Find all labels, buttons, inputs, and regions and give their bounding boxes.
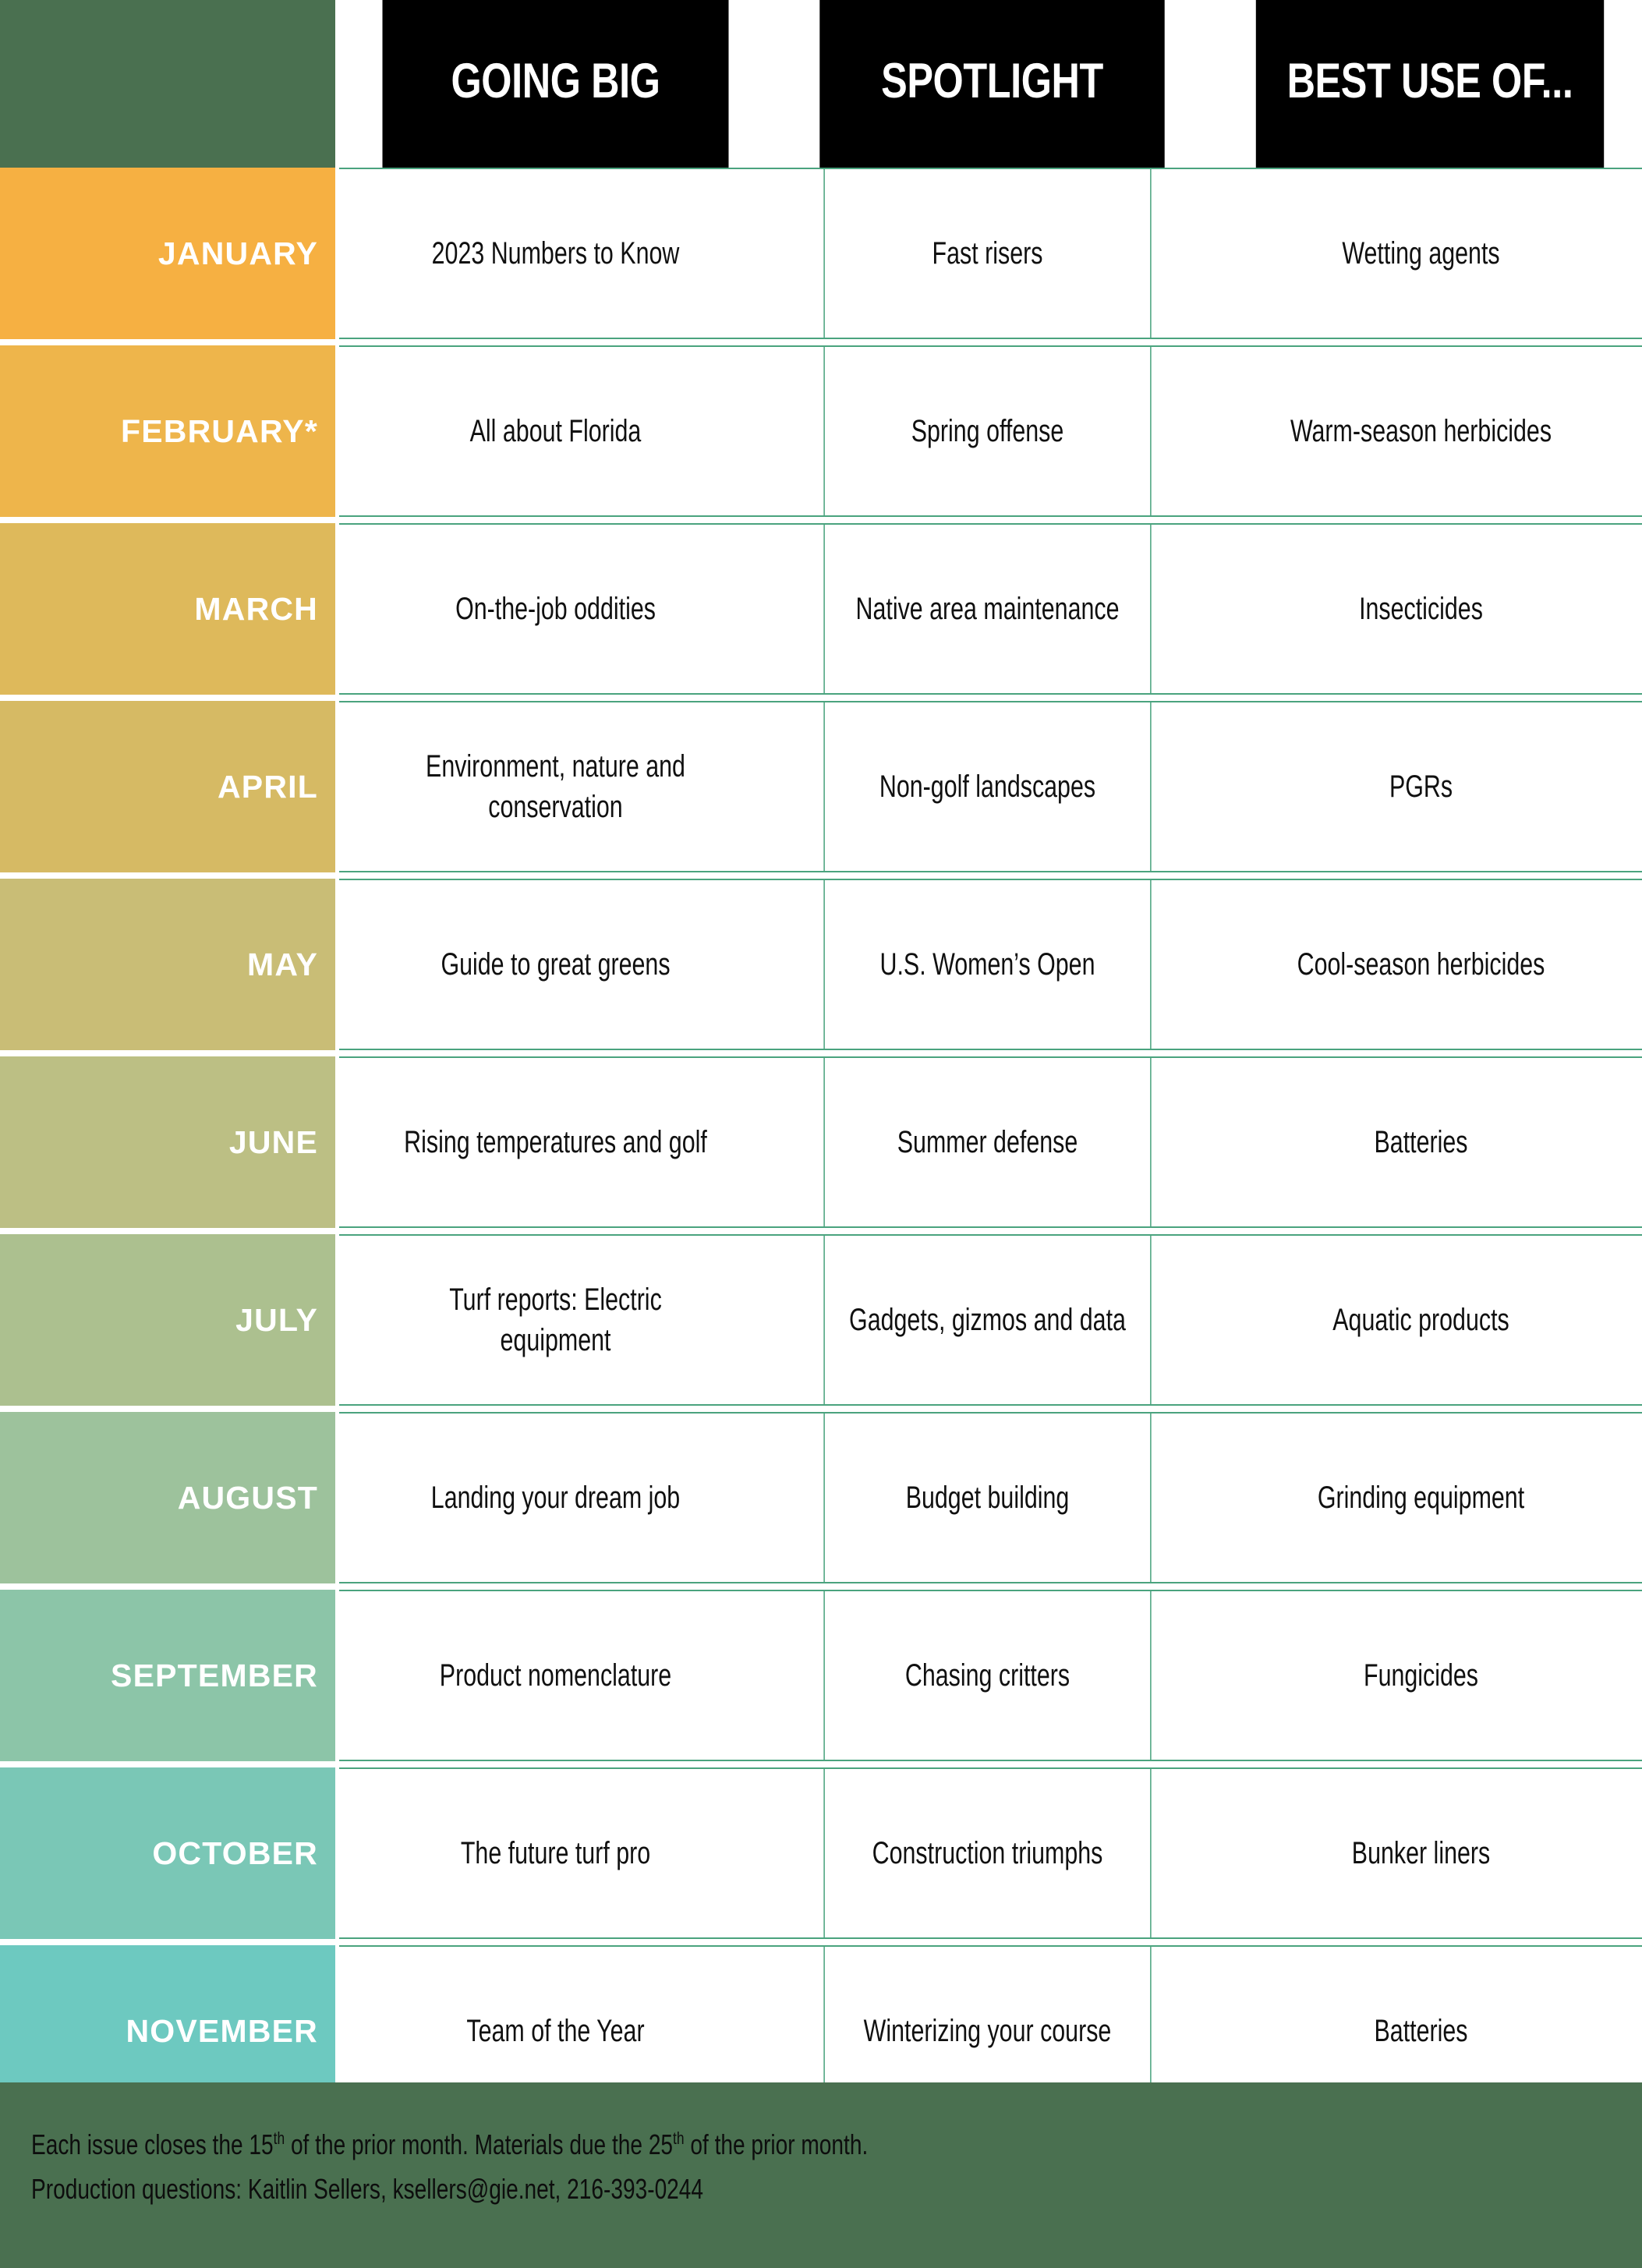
month-label-august[interactable]: AUGUST xyxy=(0,1412,335,1583)
row-cells: The future turf proConstruction triumphs… xyxy=(339,1767,1642,1939)
cell-best-use-of[interactable]: Insecticides xyxy=(1255,525,1587,693)
header-best-use-of-label: BEST USE OF... xyxy=(1287,58,1573,106)
cell-best-use-of[interactable]: Cool-season herbicides xyxy=(1255,880,1587,1049)
row-spacer xyxy=(0,872,1642,879)
row-cells: Environment, nature and conservationNon-… xyxy=(339,701,1642,872)
table-header-row: GOING BIG SPOTLIGHT BEST USE OF... xyxy=(0,0,1642,168)
cell-going-big[interactable]: Landing your dream job xyxy=(391,1414,720,1582)
row-cells: All about FloridaSpring offenseWarm-seas… xyxy=(339,345,1642,517)
month-label-september[interactable]: SEPTEMBER xyxy=(0,1590,335,1761)
cell-spotlight[interactable]: Non-golf landscapes xyxy=(823,702,1151,871)
footer-ordinal-15th: th xyxy=(274,2128,285,2148)
cell-going-big[interactable]: 2023 Numbers to Know xyxy=(391,169,720,338)
header-spotlight-label: SPOTLIGHT xyxy=(881,58,1103,106)
table-row: JANUARY2023 Numbers to KnowFast risersWe… xyxy=(0,168,1642,339)
header-divider-1 xyxy=(772,0,777,168)
cell-spotlight[interactable]: Chasing critters xyxy=(823,1591,1151,1760)
header-best-use-of: BEST USE OF... xyxy=(1256,0,1604,168)
table-row: OCTOBERThe future turf proConstruction t… xyxy=(0,1767,1642,1939)
footer-contact-line: Production questions: Kaitlin Sellers, k… xyxy=(31,2167,1287,2212)
row-cells: Rising temperatures and golfSummer defen… xyxy=(339,1056,1642,1228)
header-corner-block xyxy=(0,0,335,168)
header-divider-2 xyxy=(1208,0,1212,168)
table-row: AUGUSTLanding your dream jobBudget build… xyxy=(0,1412,1642,1583)
cell-best-use-of[interactable]: Fungicides xyxy=(1255,1591,1587,1760)
table-row: SEPTEMBERProduct nomenclatureChasing cri… xyxy=(0,1590,1642,1761)
table-row: JULYTurf reports: Electric equipmentGadg… xyxy=(0,1234,1642,1406)
table-row: MAYGuide to great greensU.S. Women’s Ope… xyxy=(0,879,1642,1050)
row-spacer xyxy=(0,1228,1642,1234)
month-label-march[interactable]: MARCH xyxy=(0,523,335,695)
cell-spotlight[interactable]: Gadgets, gizmos and data xyxy=(823,1236,1151,1404)
cell-best-use-of[interactable]: Warm-season herbicides xyxy=(1255,347,1587,515)
cell-best-use-of[interactable]: Bunker liners xyxy=(1255,1769,1587,1937)
cell-going-big[interactable]: All about Florida xyxy=(391,347,720,515)
row-spacer xyxy=(0,1406,1642,1412)
cell-spotlight[interactable]: Fast risers xyxy=(823,169,1151,338)
row-spacer xyxy=(0,1761,1642,1767)
row-cells: Guide to great greensU.S. Women’s OpenCo… xyxy=(339,879,1642,1050)
row-spacer xyxy=(0,1939,1642,1945)
row-spacer xyxy=(0,517,1642,523)
cell-going-big[interactable]: On-the-job oddities xyxy=(391,525,720,693)
cell-spotlight[interactable]: Spring offense xyxy=(823,347,1151,515)
table-row: APRILEnvironment, nature and conservatio… xyxy=(0,701,1642,872)
header-going-big-label: GOING BIG xyxy=(451,58,660,106)
row-cells: Turf reports: Electric equipmentGadgets,… xyxy=(339,1234,1642,1406)
cell-best-use-of[interactable]: Aquatic products xyxy=(1255,1236,1587,1404)
row-spacer xyxy=(0,1050,1642,1056)
cell-spotlight[interactable]: U.S. Women’s Open xyxy=(823,880,1151,1049)
month-label-july[interactable]: JULY xyxy=(0,1234,335,1406)
header-going-big: GOING BIG xyxy=(383,0,729,168)
table-row: FEBRUARY*All about FloridaSpring offense… xyxy=(0,345,1642,517)
cell-going-big[interactable]: Rising temperatures and golf xyxy=(391,1058,720,1226)
table-row: MARCHOn-the-job odditiesNative area main… xyxy=(0,523,1642,695)
cell-best-use-of[interactable]: PGRs xyxy=(1255,702,1587,871)
cell-best-use-of[interactable]: Batteries xyxy=(1255,1058,1587,1226)
month-label-october[interactable]: OCTOBER xyxy=(0,1767,335,1939)
row-spacer xyxy=(0,695,1642,701)
month-label-february[interactable]: FEBRUARY* xyxy=(0,345,335,517)
editorial-calendar-page: GOING BIG SPOTLIGHT BEST USE OF... JANUA… xyxy=(0,0,1642,2268)
row-cells: 2023 Numbers to KnowFast risersWetting a… xyxy=(339,168,1642,339)
header-spotlight: SPOTLIGHT xyxy=(819,0,1164,168)
footer-line1-part2: of the prior month. Materials due the 25 xyxy=(285,2128,673,2160)
cell-best-use-of[interactable]: Wetting agents xyxy=(1255,169,1587,338)
month-label-june[interactable]: JUNE xyxy=(0,1056,335,1228)
cell-going-big[interactable]: Turf reports: Electric equipment xyxy=(391,1236,720,1404)
row-cells: On-the-job odditiesNative area maintenan… xyxy=(339,523,1642,695)
footer-line1-part3: of the prior month. xyxy=(685,2128,869,2160)
month-label-may[interactable]: MAY xyxy=(0,879,335,1050)
header-columns: GOING BIG SPOTLIGHT BEST USE OF... xyxy=(339,0,1642,168)
cell-going-big[interactable]: Environment, nature and conservation xyxy=(391,702,720,871)
cell-going-big[interactable]: The future turf pro xyxy=(391,1769,720,1937)
row-spacer xyxy=(0,339,1642,345)
month-label-april[interactable]: APRIL xyxy=(0,701,335,872)
footer-line1-part1: Each issue closes the 15 xyxy=(31,2128,274,2160)
table-row: JUNERising temperatures and golfSummer d… xyxy=(0,1056,1642,1228)
row-cells: Product nomenclatureChasing crittersFung… xyxy=(339,1590,1642,1761)
cell-spotlight[interactable]: Construction triumphs xyxy=(823,1769,1151,1937)
row-cells: Landing your dream jobBudget buildingGri… xyxy=(339,1412,1642,1583)
cell-spotlight[interactable]: Budget building xyxy=(823,1414,1151,1582)
footer-deadline-line: Each issue closes the 15th of the prior … xyxy=(31,2123,1287,2167)
calendar-body: JANUARY2023 Numbers to KnowFast risersWe… xyxy=(0,168,1642,2268)
footer-notes: Each issue closes the 15th of the prior … xyxy=(0,2082,1642,2268)
cell-spotlight[interactable]: Summer defense xyxy=(823,1058,1151,1226)
cell-going-big[interactable]: Guide to great greens xyxy=(391,880,720,1049)
cell-best-use-of[interactable]: Grinding equipment xyxy=(1255,1414,1587,1582)
cell-spotlight[interactable]: Native area maintenance xyxy=(823,525,1151,693)
month-label-january[interactable]: JANUARY xyxy=(0,168,335,339)
footer-ordinal-25th: th xyxy=(673,2128,685,2148)
cell-going-big[interactable]: Product nomenclature xyxy=(391,1591,720,1760)
row-spacer xyxy=(0,1583,1642,1590)
